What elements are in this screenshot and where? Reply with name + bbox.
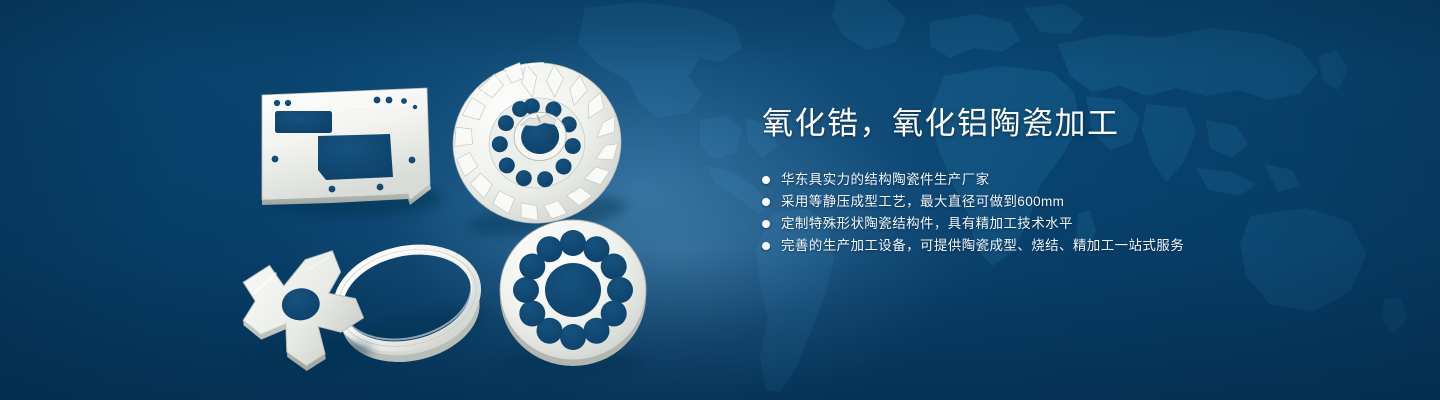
feature-text: 完善的生产加工设备，可提供陶瓷成型、烧结、精加工一站式服务	[781, 235, 1184, 257]
list-item: 定制特殊形状陶瓷结构件，具有精加工技术水平	[762, 213, 1382, 235]
ceramic-processing-banner: 氧化锆，氧化铝陶瓷加工 华东具实力的结构陶瓷件生产厂家 采用等静压成型工艺，最大…	[0, 0, 1440, 400]
ceramic-impeller-part	[442, 50, 632, 244]
list-item: 采用等静压成型工艺，最大直径可做到600mm	[762, 191, 1382, 213]
product-photo-group	[232, 48, 678, 378]
ceramic-hole-disc-part	[500, 220, 646, 378]
feature-text: 华东具实力的结构陶瓷件生产厂家	[781, 169, 990, 191]
list-item: 华东具实力的结构陶瓷件生产厂家	[762, 169, 1382, 191]
page-title: 氧化锆，氧化铝陶瓷加工	[762, 104, 1382, 144]
banner-text-block: 氧化锆，氧化铝陶瓷加工 华东具实力的结构陶瓷件生产厂家 采用等静压成型工艺，最大…	[762, 104, 1382, 257]
feature-text: 定制特殊形状陶瓷结构件，具有精加工技术水平	[781, 213, 1073, 235]
ceramic-cross-plate-part	[237, 248, 375, 378]
feature-list: 华东具实力的结构陶瓷件生产厂家 采用等静压成型工艺，最大直径可做到600mm 定…	[762, 169, 1382, 257]
list-item: 完善的生产加工设备，可提供陶瓷成型、烧结、精加工一站式服务	[762, 235, 1382, 257]
dot-bullet-icon	[762, 198, 770, 206]
dot-bullet-icon	[762, 176, 770, 184]
dot-bullet-icon	[762, 220, 770, 228]
feature-text: 采用等静压成型工艺，最大直径可做到600mm	[781, 191, 1064, 213]
ceramic-plate-part	[262, 88, 442, 216]
dot-bullet-icon	[762, 242, 770, 250]
